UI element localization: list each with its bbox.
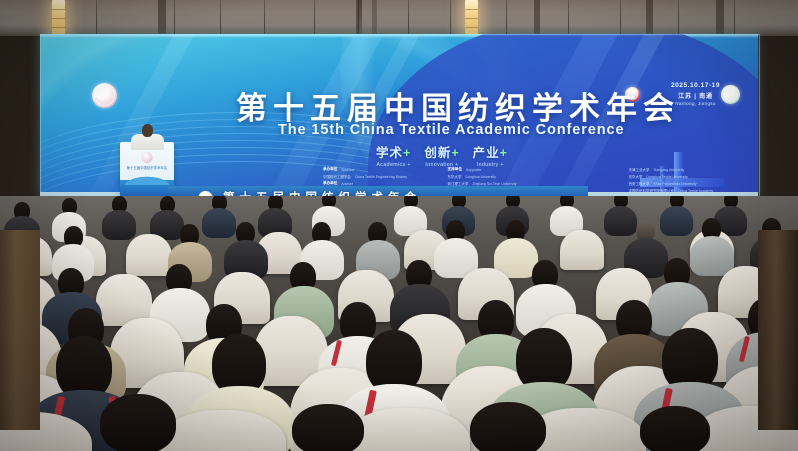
audience-chair	[126, 234, 172, 276]
wall-sconce-left	[52, 0, 65, 34]
wall-pillar-left	[0, 230, 40, 430]
cts-logo-seal	[92, 83, 117, 108]
tagline-group: 学术+ Academics + 创新+ Innovation + 产业+ Ind…	[376, 142, 508, 168]
tagline-academics: 学术+ Academics +	[376, 142, 411, 168]
audience-area	[0, 196, 798, 451]
attendee-body	[202, 208, 236, 238]
podium-caption-cn: 第十五届中国纺织学术年会	[120, 165, 174, 170]
wall-pillar-right	[758, 230, 798, 430]
speaker-podium: 第十五届中国纺织学术年会	[120, 142, 174, 197]
tagline-innovation: 创新+ Innovation +	[424, 142, 459, 168]
speaker-head	[142, 124, 153, 137]
wall-sconce-right	[465, 0, 478, 34]
attendee-head	[292, 404, 364, 451]
conference-title-en: The 15th China Textile Academic Conferen…	[278, 122, 698, 138]
attendee-body	[604, 206, 637, 236]
conference-photo: 2025.10.17-19 江苏 | 南通 Nantong, Jiangsu 第…	[0, 0, 798, 451]
ceiling-wall	[0, 0, 798, 36]
attendee-body	[102, 210, 136, 240]
podium-seal-icon	[142, 152, 153, 163]
attendee-head	[470, 402, 546, 451]
audience-chair	[560, 230, 604, 270]
attendee-head	[640, 406, 710, 451]
conference-date: 2025.10.17-19	[671, 82, 720, 89]
attendee-body	[690, 236, 734, 276]
teal-emblem-icon	[721, 85, 740, 104]
attendee-head	[100, 394, 176, 451]
tagline-industry: 产业+ Industry +	[473, 142, 508, 168]
attendee-body	[660, 206, 693, 236]
